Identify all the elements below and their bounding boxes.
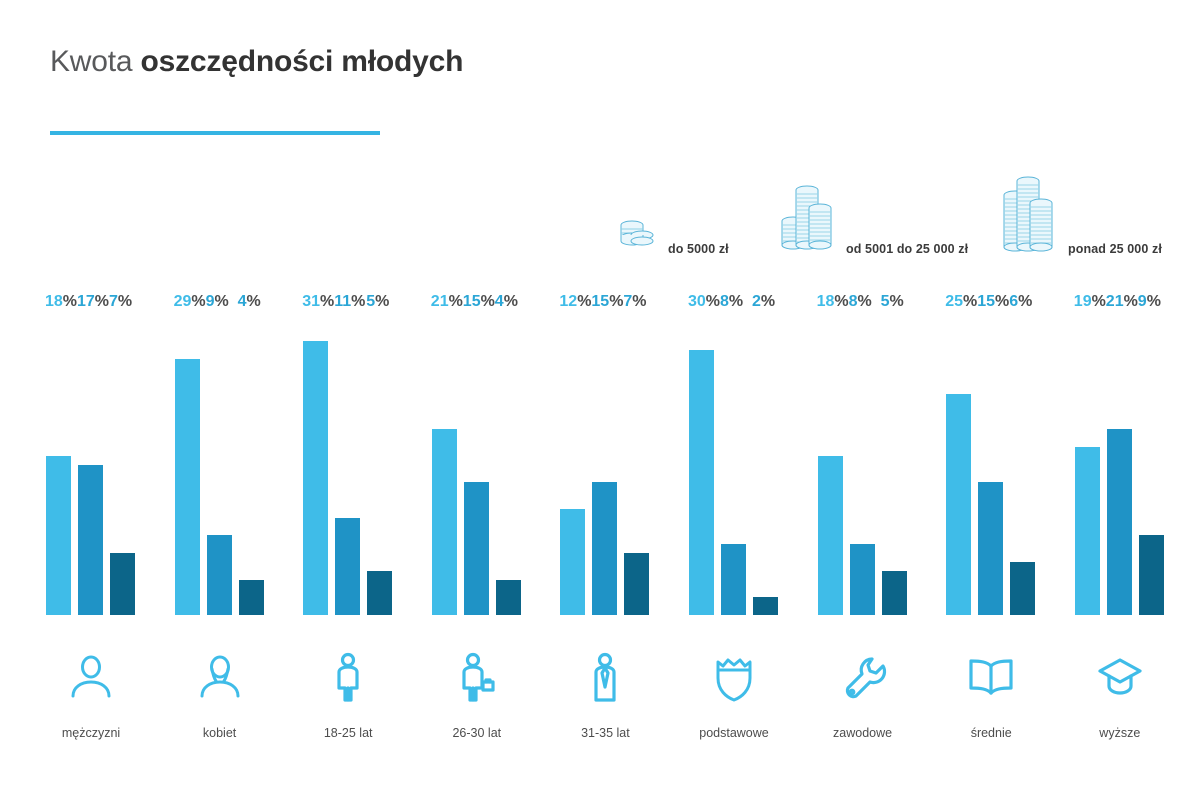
- percent-symbol: %: [858, 293, 872, 310]
- bar-item[interactable]: 5%: [882, 315, 907, 615]
- bar[interactable]: [303, 341, 328, 615]
- bar[interactable]: [624, 553, 649, 615]
- bar-value-label: 21%: [1106, 294, 1138, 310]
- person-with-bag-icon: [432, 648, 522, 708]
- bar[interactable]: [592, 482, 617, 615]
- bar-value-number: 17: [77, 293, 95, 310]
- bar-value-label: 15%: [591, 294, 623, 310]
- percent-symbol: %: [632, 293, 646, 310]
- bar-value-label: 5%: [881, 294, 904, 310]
- bar-value-number: 18: [45, 293, 63, 310]
- bar-value-label: 17%: [77, 294, 109, 310]
- bar-item[interactable]: 25%: [946, 315, 971, 615]
- bar-value-label: 31%: [302, 294, 334, 310]
- percent-symbol: %: [375, 293, 389, 310]
- bar-group-bars: 18%17%7%: [46, 315, 136, 615]
- bar-value-label: 15%: [977, 294, 1009, 310]
- bar-value-label: 15%: [463, 294, 495, 310]
- bar-value-number: 30: [688, 293, 706, 310]
- bar-value-label: 30%: [688, 294, 720, 310]
- bar[interactable]: [689, 350, 714, 615]
- bar-value-number: 21: [1106, 293, 1124, 310]
- bar[interactable]: [1139, 535, 1164, 615]
- child-figure-icon: [303, 648, 393, 708]
- bar-value-number: 6: [1009, 293, 1018, 310]
- bar[interactable]: [818, 456, 843, 615]
- bar-value-number: 5: [366, 293, 375, 310]
- percent-symbol: %: [1124, 293, 1138, 310]
- bar-value-label: 12%: [559, 294, 591, 310]
- bar-value-label: 29%: [174, 294, 206, 310]
- percent-symbol: %: [191, 293, 205, 310]
- bar-item[interactable]: 15%: [978, 315, 1003, 615]
- bar-item[interactable]: 9%: [1139, 315, 1164, 615]
- bar-item[interactable]: 4%: [496, 315, 521, 615]
- bar[interactable]: [78, 465, 103, 615]
- percent-symbol: %: [706, 293, 720, 310]
- bar-value-number: 19: [1074, 293, 1092, 310]
- category-label: 31-35 lat: [544, 726, 666, 740]
- category-label: 26-30 lat: [416, 726, 538, 740]
- percent-symbol: %: [504, 293, 518, 310]
- bar-value-label: 18%: [817, 294, 849, 310]
- percent-symbol: %: [95, 293, 109, 310]
- bar-group-bars: 31%11%5%: [303, 315, 393, 615]
- bar-item[interactable]: 7%: [110, 315, 135, 615]
- bar-item[interactable]: 12%: [560, 315, 585, 615]
- bar-group-bars: 29%9%4%: [175, 315, 265, 615]
- percent-symbol: %: [609, 293, 623, 310]
- percent-symbol: %: [1092, 293, 1106, 310]
- bar-value-label: 8%: [849, 294, 872, 310]
- bar[interactable]: [721, 544, 746, 615]
- category-label: podstawowe: [673, 726, 795, 740]
- category-label: 18-25 lat: [287, 726, 409, 740]
- bar-group-bars: 19%21%9%: [1075, 315, 1165, 615]
- category-label: zawodowe: [802, 726, 924, 740]
- bar[interactable]: [464, 482, 489, 615]
- bar-value-number: 2: [752, 293, 761, 310]
- category-label: wyższe: [1059, 726, 1181, 740]
- bar[interactable]: [560, 509, 585, 615]
- bar-item[interactable]: 17%: [78, 315, 103, 615]
- bar-group-bars: 18%8%5%: [818, 315, 908, 615]
- bar-item[interactable]: 18%: [818, 315, 843, 615]
- bar-value-label: 4%: [495, 294, 518, 310]
- bar-value-number: 25: [945, 293, 963, 310]
- percent-symbol: %: [247, 293, 261, 310]
- bar-value-label: 21%: [431, 294, 463, 310]
- graduation-cap-icon: [1075, 648, 1165, 708]
- shield-icon: [689, 648, 779, 708]
- bar-item[interactable]: 29%: [175, 315, 200, 615]
- bar-value-label: 4%: [238, 294, 261, 310]
- bar-value-number: 8: [849, 293, 858, 310]
- bar-item[interactable]: 7%: [624, 315, 649, 615]
- bar[interactable]: [110, 553, 135, 615]
- bar-value-label: 9%: [1138, 294, 1161, 310]
- bar-item[interactable]: 19%: [1075, 315, 1100, 615]
- bar[interactable]: [1075, 447, 1100, 615]
- female-user-icon: [175, 648, 265, 708]
- bar-item[interactable]: 21%: [432, 315, 457, 615]
- bar[interactable]: [1107, 429, 1132, 615]
- percent-symbol: %: [761, 293, 775, 310]
- bar-value-number: 4: [238, 293, 247, 310]
- percent-symbol: %: [963, 293, 977, 310]
- percent-symbol: %: [63, 293, 77, 310]
- bar-item[interactable]: 8%: [721, 315, 746, 615]
- bar-value-number: 9: [1138, 293, 1147, 310]
- bar[interactable]: [850, 544, 875, 615]
- percent-symbol: %: [320, 293, 334, 310]
- percent-symbol: %: [118, 293, 132, 310]
- bar-value-number: 8: [720, 293, 729, 310]
- percent-symbol: %: [834, 293, 848, 310]
- bar-value-label: 8%: [720, 294, 743, 310]
- bar-value-number: 15: [591, 293, 609, 310]
- bar-item[interactable]: 2%: [753, 315, 778, 615]
- bar[interactable]: [46, 456, 71, 615]
- percent-symbol: %: [729, 293, 743, 310]
- bar[interactable]: [978, 482, 1003, 615]
- bar-value-label: 6%: [1009, 294, 1032, 310]
- bar-value-number: 15: [977, 293, 995, 310]
- bar-value-label: 19%: [1074, 294, 1106, 310]
- bar-value-number: 7: [109, 293, 118, 310]
- bar-value-label: 2%: [752, 294, 775, 310]
- infographic-page: Kwota oszczędności młodych: [0, 0, 1200, 800]
- bar-item[interactable]: 9%: [207, 315, 232, 615]
- bar-group-bars: 30%8%2%: [689, 315, 779, 615]
- bar[interactable]: [753, 597, 778, 615]
- bar-value-label: 25%: [945, 294, 977, 310]
- bar-item[interactable]: 30%: [689, 315, 714, 615]
- bar[interactable]: [946, 394, 971, 615]
- bar-value-number: 9: [206, 293, 215, 310]
- bar-item[interactable]: 15%: [464, 315, 489, 615]
- open-book-icon: [946, 648, 1036, 708]
- percent-symbol: %: [449, 293, 463, 310]
- bar-item[interactable]: 18%: [46, 315, 71, 615]
- category-label: średnie: [930, 726, 1052, 740]
- percent-symbol: %: [890, 293, 904, 310]
- bar-value-number: 21: [431, 293, 449, 310]
- category-label: mężczyzni: [30, 726, 152, 740]
- bar[interactable]: [335, 518, 360, 615]
- bar-item[interactable]: 21%: [1107, 315, 1132, 615]
- bar-item[interactable]: 4%: [239, 315, 264, 615]
- bar-value-number: 31: [302, 293, 320, 310]
- bar-value-label: 11%: [334, 294, 365, 310]
- bar[interactable]: [1010, 562, 1035, 615]
- person-suit-icon: [560, 648, 650, 708]
- bar-value-number: 18: [817, 293, 835, 310]
- bar-item[interactable]: 6%: [1010, 315, 1035, 615]
- bar-item[interactable]: 15%: [592, 315, 617, 615]
- bar-value-number: 29: [174, 293, 192, 310]
- bar-value-label: 7%: [109, 294, 132, 310]
- bar-value-label: 7%: [623, 294, 646, 310]
- bar-value-number: 11: [334, 293, 351, 310]
- bar-value-number: 15: [463, 293, 481, 310]
- bar[interactable]: [239, 580, 264, 615]
- bar-value-label: 5%: [366, 294, 389, 310]
- percent-symbol: %: [215, 293, 229, 310]
- bar-item[interactable]: 8%: [850, 315, 875, 615]
- bar-item[interactable]: 31%: [303, 315, 328, 615]
- bar-item[interactable]: 11%: [335, 315, 360, 615]
- bar-value-number: 4: [495, 293, 504, 310]
- bar-value-label: 9%: [206, 294, 229, 310]
- category-label: kobiet: [159, 726, 281, 740]
- percent-symbol: %: [481, 293, 495, 310]
- bar-item[interactable]: 5%: [367, 315, 392, 615]
- bar[interactable]: [496, 580, 521, 615]
- bar-group-bars: 25%15%6%: [946, 315, 1036, 615]
- bar-value-label: 18%: [45, 294, 77, 310]
- bar[interactable]: [882, 571, 907, 615]
- male-user-icon: [46, 648, 136, 708]
- bar[interactable]: [432, 429, 457, 615]
- bar[interactable]: [207, 535, 232, 615]
- bar-value-number: 12: [559, 293, 577, 310]
- bar-chart: 18%17%7%mężczyzni29%9%4%kobiet31%11%5%18…: [0, 0, 1200, 800]
- percent-symbol: %: [1018, 293, 1032, 310]
- bar[interactable]: [367, 571, 392, 615]
- bar-group-bars: 12%15%7%: [560, 315, 650, 615]
- percent-symbol: %: [577, 293, 591, 310]
- wrench-icon: [818, 648, 908, 708]
- bar-group-bars: 21%15%4%: [432, 315, 522, 615]
- bar-value-number: 5: [881, 293, 890, 310]
- percent-symbol: %: [995, 293, 1009, 310]
- percent-symbol: %: [351, 293, 365, 310]
- percent-symbol: %: [1147, 293, 1161, 310]
- bar[interactable]: [175, 359, 200, 615]
- bar-value-number: 7: [623, 293, 632, 310]
